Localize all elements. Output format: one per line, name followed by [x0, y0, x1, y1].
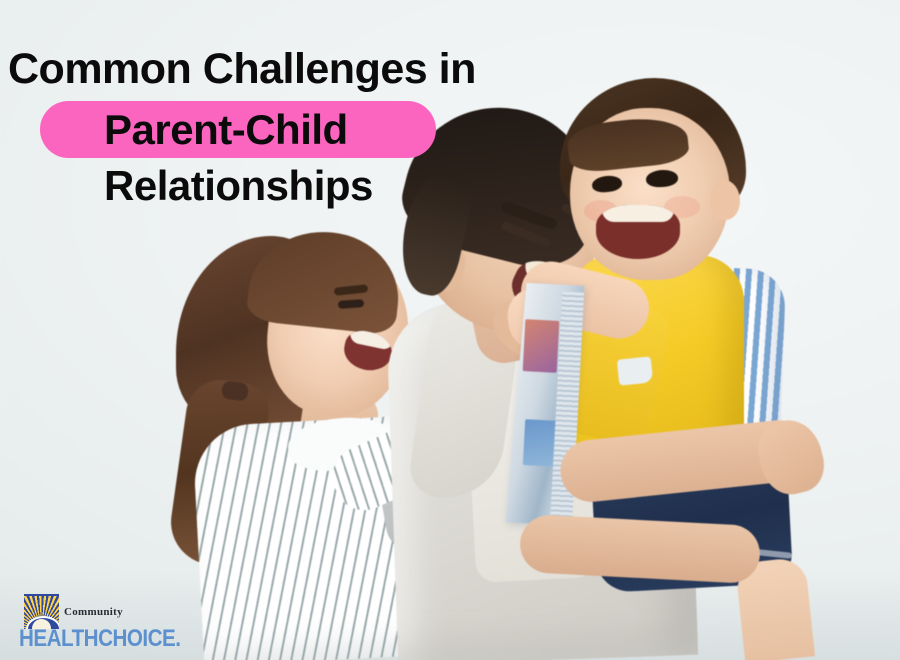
child-mouth	[596, 205, 680, 259]
community-healthchoice-logo[interactable]: Community HEALTHCHOICE.	[20, 592, 190, 650]
logo-top-text: Community	[64, 606, 123, 618]
logo-bottom-text: HEALTHCHOICE.	[19, 625, 180, 653]
child-teeth	[602, 205, 674, 222]
magazine-photo-top	[523, 319, 560, 373]
headline-line-1: Common Challenges in	[8, 48, 476, 91]
headline-line-3: Relationships	[104, 165, 373, 207]
banner-image: Common Challenges in Parent-Child Relati…	[0, 0, 900, 660]
child-shirt-tag	[617, 356, 654, 385]
child-ear	[710, 180, 740, 220]
sunburst-logo-icon	[24, 594, 59, 629]
headline-line-2: Parent-Child	[104, 109, 348, 151]
